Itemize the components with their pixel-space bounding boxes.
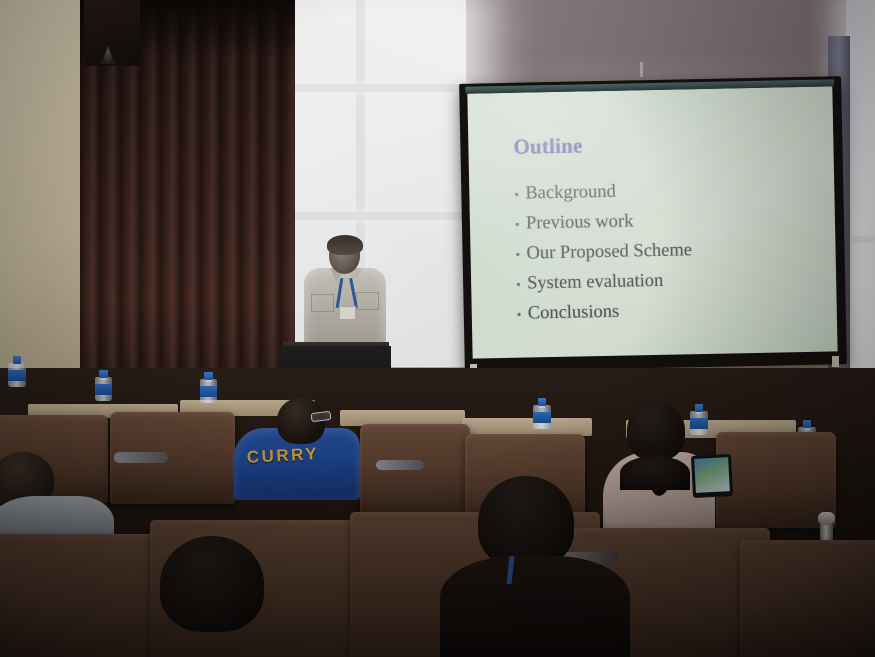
left-wall [0,0,86,400]
pole-knob [818,512,835,525]
seat-armrest [114,452,168,463]
slide-bullet-label: Conclusions [528,302,620,325]
water-bottle [690,404,708,437]
seat-armrest [376,460,424,470]
presentation-slide: Outline • Background • Previous work • O… [467,86,837,358]
audience-head-front [620,456,690,490]
water-bottle [200,372,217,404]
bullet-dot-icon: • [516,278,527,291]
slide-bullet-label: System evaluation [527,271,664,295]
slide-bullet-label: Our Proposed Scheme [526,240,692,264]
slide-bullet-label: Previous work [526,211,634,234]
audience-head [627,402,685,460]
bullet-dot-icon: • [517,308,528,321]
auditorium-seat [716,432,836,528]
water-bottle [95,370,112,402]
presentation-photo: Outline • Background • Previous work • O… [0,0,875,657]
slide-bullet-label: Background [525,182,616,205]
bullet-dot-icon: • [514,188,525,201]
tablet-screen [694,457,730,493]
slide-bullet-item: • Background [514,177,834,204]
window-right-strip [846,0,875,400]
audience-shoulders-front [440,556,630,657]
slide-title: Outline [513,128,833,159]
window-mullion-horizontal [852,236,875,243]
presenter-hair [327,235,363,255]
auditorium-seat-front [740,540,875,657]
projection-screen-surface: Outline • Background • Previous work • O… [467,86,837,358]
audience-head-front [160,536,264,632]
slide-bullet-item: • Our Proposed Scheme [515,237,835,264]
screen-mount-hook [640,62,643,77]
ceiling-speaker-icon [84,0,140,66]
window-mullion-horizontal [288,84,466,92]
shirt-pocket [356,292,379,310]
water-bottle [8,356,26,388]
slide-bullet-list: • Background • Previous work • Our Propo… [514,177,837,324]
slide-bullet-item: • Conclusions [517,297,837,324]
window-mullion-horizontal [288,212,466,220]
shirt-pocket [311,294,334,312]
bullet-dot-icon: • [515,248,526,261]
name-badge [339,306,356,320]
screen-bracket [832,356,839,367]
slide-bullet-item: • System evaluation [516,267,836,294]
bullet-dot-icon: • [515,218,526,231]
projection-screen: Outline • Background • Previous work • O… [459,76,847,372]
water-bottle [533,398,551,431]
slide-bullet-item: • Previous work [515,207,835,234]
audience-head-front [478,476,574,568]
